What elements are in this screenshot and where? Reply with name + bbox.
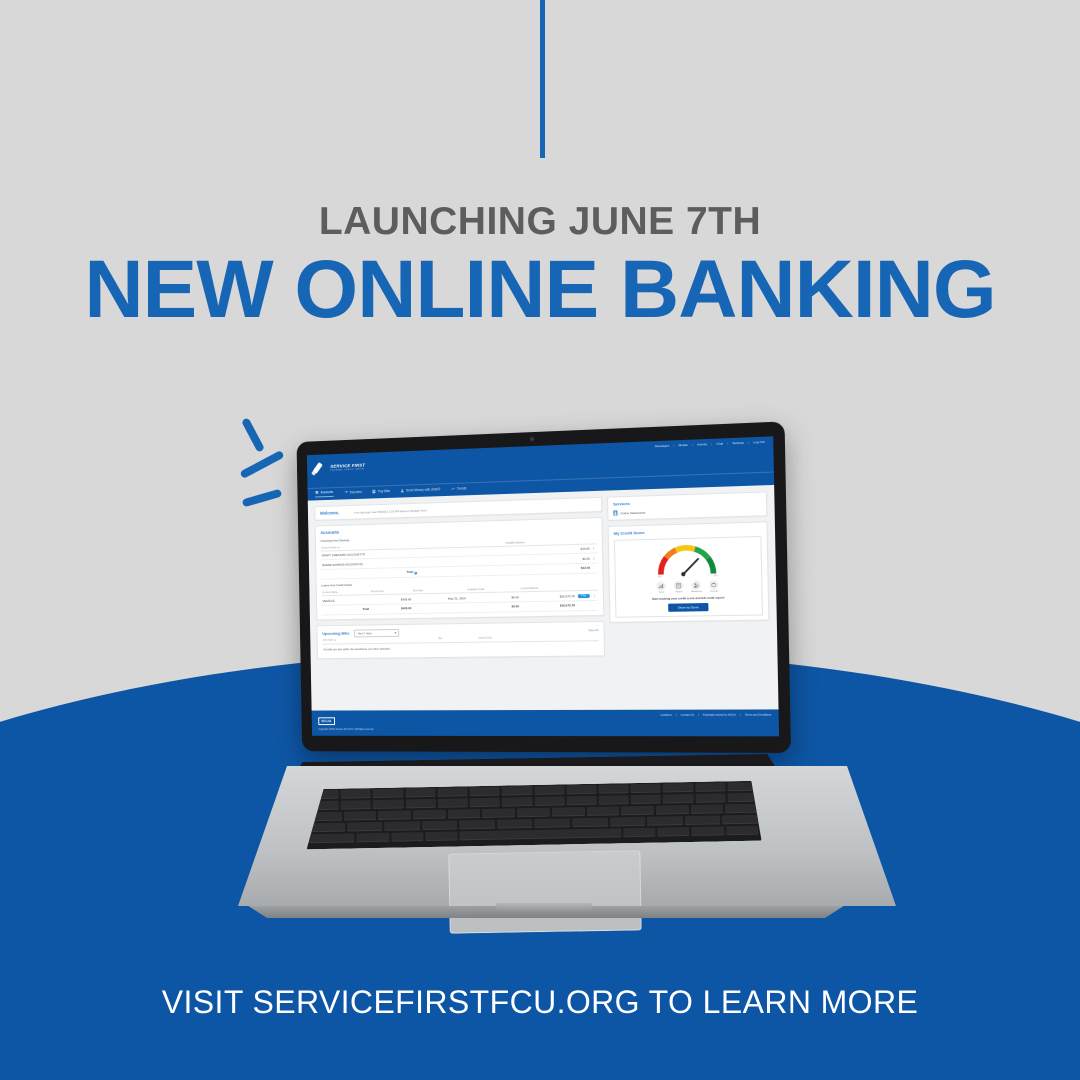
utility-nav-messages[interactable]: Messages — [655, 444, 670, 449]
accounts-card: Accounts Checking And Savings Account Na… — [315, 517, 604, 620]
savings-icon — [712, 582, 717, 587]
tile-label: Score — [659, 592, 665, 594]
credit-score-title: My Credit Score — [614, 527, 762, 536]
brand-text: SERVICE FIRST FEDERAL CREDIT UNION — [330, 464, 365, 472]
col-bill[interactable]: Bill — [438, 635, 478, 642]
services-title: Services — [613, 497, 761, 507]
service-item-online-statements[interactable]: Online Statements — [613, 506, 761, 516]
brand-tagline: FEDERAL CREDIT UNION — [330, 469, 365, 473]
nav-tab-label: Trends — [457, 486, 467, 490]
tile-label: Monitoring — [691, 591, 702, 593]
gauge-max-label: 850 — [714, 575, 718, 577]
poster-kicker: LAUNCHING JUNE 7TH — [0, 200, 1080, 244]
checking-savings-table: Account Name ▲ Available Balance — [321, 537, 598, 579]
nav-separator: | — [676, 714, 677, 717]
services-card: Services Online Statements — [607, 491, 767, 520]
nav-separator: | — [740, 714, 741, 717]
total-available-credit: $0.00 — [467, 602, 520, 612]
poster-canvas: LAUNCHING JUNE 7TH NEW ONLINE BANKING Me… — [0, 0, 1080, 1080]
laptop-keyboard[interactable] — [305, 781, 761, 850]
laptop-front-notch — [496, 903, 592, 912]
zelle-icon — [400, 488, 404, 492]
service-first-logo-icon — [313, 461, 328, 477]
row-menu-icon[interactable]: ⋮ — [592, 590, 598, 600]
nav-tab-transfers[interactable]: Transfers — [343, 489, 362, 496]
tile-label: Savings — [710, 590, 718, 592]
service-item-label: Online Statements — [620, 510, 645, 515]
document-icon — [613, 510, 617, 515]
utility-nav-activity[interactable]: Activity — [697, 442, 707, 446]
upcoming-bills-title: Upcoming Bills — [322, 631, 349, 636]
row-menu-icon[interactable]: ⋮ — [591, 553, 597, 563]
credit-tile-score[interactable]: Score — [655, 581, 669, 593]
utility-nav-logout[interactable]: Log Out — [753, 440, 765, 445]
ncua-seal: NCUA — [318, 718, 335, 725]
upcoming-bills-card: Upcoming Bills Next 7 days View All Due … — [317, 621, 605, 659]
bar-chart-icon — [659, 583, 664, 588]
credit-tile-savings[interactable]: Savings — [707, 580, 721, 593]
welcome-card: Welcome, Your last login was 5/6/2021 1:… — [314, 497, 602, 521]
laptop-mockup: Messages | Mobile | Activity | Chat | Se… — [196, 432, 896, 952]
welcome-title: Welcome, — [320, 510, 339, 515]
footer-link-locations[interactable]: Locations — [660, 714, 671, 717]
laptop-screen: Messages | Mobile | Activity | Chat | Se… — [307, 436, 779, 736]
show-my-score-button[interactable]: Show my Score — [668, 603, 708, 611]
nav-tab-label: Pay Bills — [378, 489, 390, 493]
webcam-icon — [530, 437, 534, 441]
nav-tab-trends[interactable]: Trends — [451, 485, 467, 492]
last-login-text: Your last login was 5/6/2021 1:28 PM Eas… — [354, 508, 427, 514]
nav-separator: | — [692, 443, 693, 447]
transfers-icon — [343, 490, 347, 494]
laptop-trackpad[interactable] — [448, 850, 641, 933]
total-amount-due: $428.00 — [370, 604, 412, 614]
nav-tab-label: Accounts — [321, 490, 334, 494]
nav-separator: | — [673, 443, 674, 447]
top-accent-rule — [540, 0, 545, 158]
tile-label: Report — [676, 591, 683, 593]
nav-tab-pay-bills[interactable]: Pay Bills — [372, 488, 390, 495]
credit-score-gauge: 300 850 — [655, 542, 720, 578]
nav-tab-zelle[interactable]: Send Money with Zelle® — [400, 486, 440, 494]
footer-link-terms[interactable]: Terms and Conditions — [745, 714, 771, 717]
credit-score-pitch: Start tracking your credit score and ful… — [652, 597, 725, 602]
laptop-base — [196, 740, 896, 916]
report-icon — [676, 583, 681, 588]
pay-button[interactable]: Pay — [577, 593, 590, 598]
accounts-icon — [315, 491, 319, 495]
total-label: Total — [407, 570, 414, 574]
total-value: $12.00 — [505, 563, 592, 575]
nav-separator: | — [698, 714, 699, 717]
nav-tab-label: Send Money with Zelle® — [406, 487, 440, 492]
nav-tab-accounts[interactable]: Accounts — [315, 490, 333, 497]
gauge-min-label: 300 — [658, 576, 662, 578]
view-all-link[interactable]: View All — [588, 628, 598, 632]
col-label: Account Name — [322, 546, 337, 549]
online-banking-app: Messages | Mobile | Activity | Chat | Se… — [307, 436, 779, 736]
utility-nav-settings[interactable]: Settings — [732, 441, 744, 446]
gauge-arc — [655, 542, 720, 578]
app-content: Welcome, Your last login was 5/6/2021 1:… — [308, 485, 779, 711]
sidebar-column: Services Online Statements My Credit Sco… — [607, 491, 771, 704]
main-column: Welcome, Your last login was 5/6/2021 1:… — [314, 497, 606, 705]
nav-tab-label: Transfers — [349, 490, 362, 494]
credit-tile-monitoring[interactable]: Monitoring — [690, 581, 704, 594]
credit-score-tiles: Score Report — [655, 580, 721, 594]
footer-copyright: Copyright ©2021 Service First FCU. All R… — [318, 728, 771, 731]
utility-nav-chat[interactable]: Chat — [716, 441, 723, 445]
nav-separator: | — [727, 441, 728, 445]
sort-ascending-icon[interactable]: ▲ — [337, 546, 339, 549]
total-label: Total — [322, 605, 370, 615]
pay-bills-icon — [372, 489, 376, 493]
nav-separator: | — [711, 442, 712, 446]
footer-link-ncua-insured[interactable]: Federally Insured by NCUA — [703, 714, 736, 717]
app-footer: Locations | Contact Us | Federally Insur… — [312, 710, 779, 736]
trends-icon — [451, 486, 455, 490]
gauge-needle — [683, 559, 698, 574]
footer-link-contact-us[interactable]: Contact Us — [681, 714, 694, 717]
monitoring-icon — [694, 583, 699, 588]
credit-score-card: My Credit Score — [607, 521, 769, 622]
loans-credit-cards-table: Account Name Amount Due Due Date Availab… — [321, 584, 598, 615]
info-icon[interactable]: i — [414, 572, 417, 575]
row-menu-icon[interactable]: ⋮ — [591, 544, 597, 554]
poster-cta: VISIT SERVICEFIRSTFCU.ORG TO LEARN MORE — [0, 984, 1080, 1021]
credit-score-widget: 300 850 Score — [614, 536, 763, 617]
bills-range-select[interactable]: Next 7 days — [354, 629, 399, 637]
sort-ascending-icon[interactable]: ▲ — [334, 639, 336, 642]
total-current-balance: $16,075.78 — [520, 601, 576, 611]
bills-empty-message: No bills are due within the timeframe yo… — [322, 641, 598, 654]
utility-nav-mobile[interactable]: Mobile — [678, 443, 687, 447]
col-label: Due Date — [323, 639, 333, 642]
credit-tile-report[interactable]: Report — [672, 581, 686, 594]
nav-separator: | — [748, 440, 749, 444]
brand-logo[interactable]: SERVICE FIRST FEDERAL CREDIT UNION — [313, 444, 768, 477]
laptop-lid: Messages | Mobile | Activity | Chat | Se… — [297, 421, 792, 753]
poster-headline: NEW ONLINE BANKING — [0, 243, 1080, 337]
